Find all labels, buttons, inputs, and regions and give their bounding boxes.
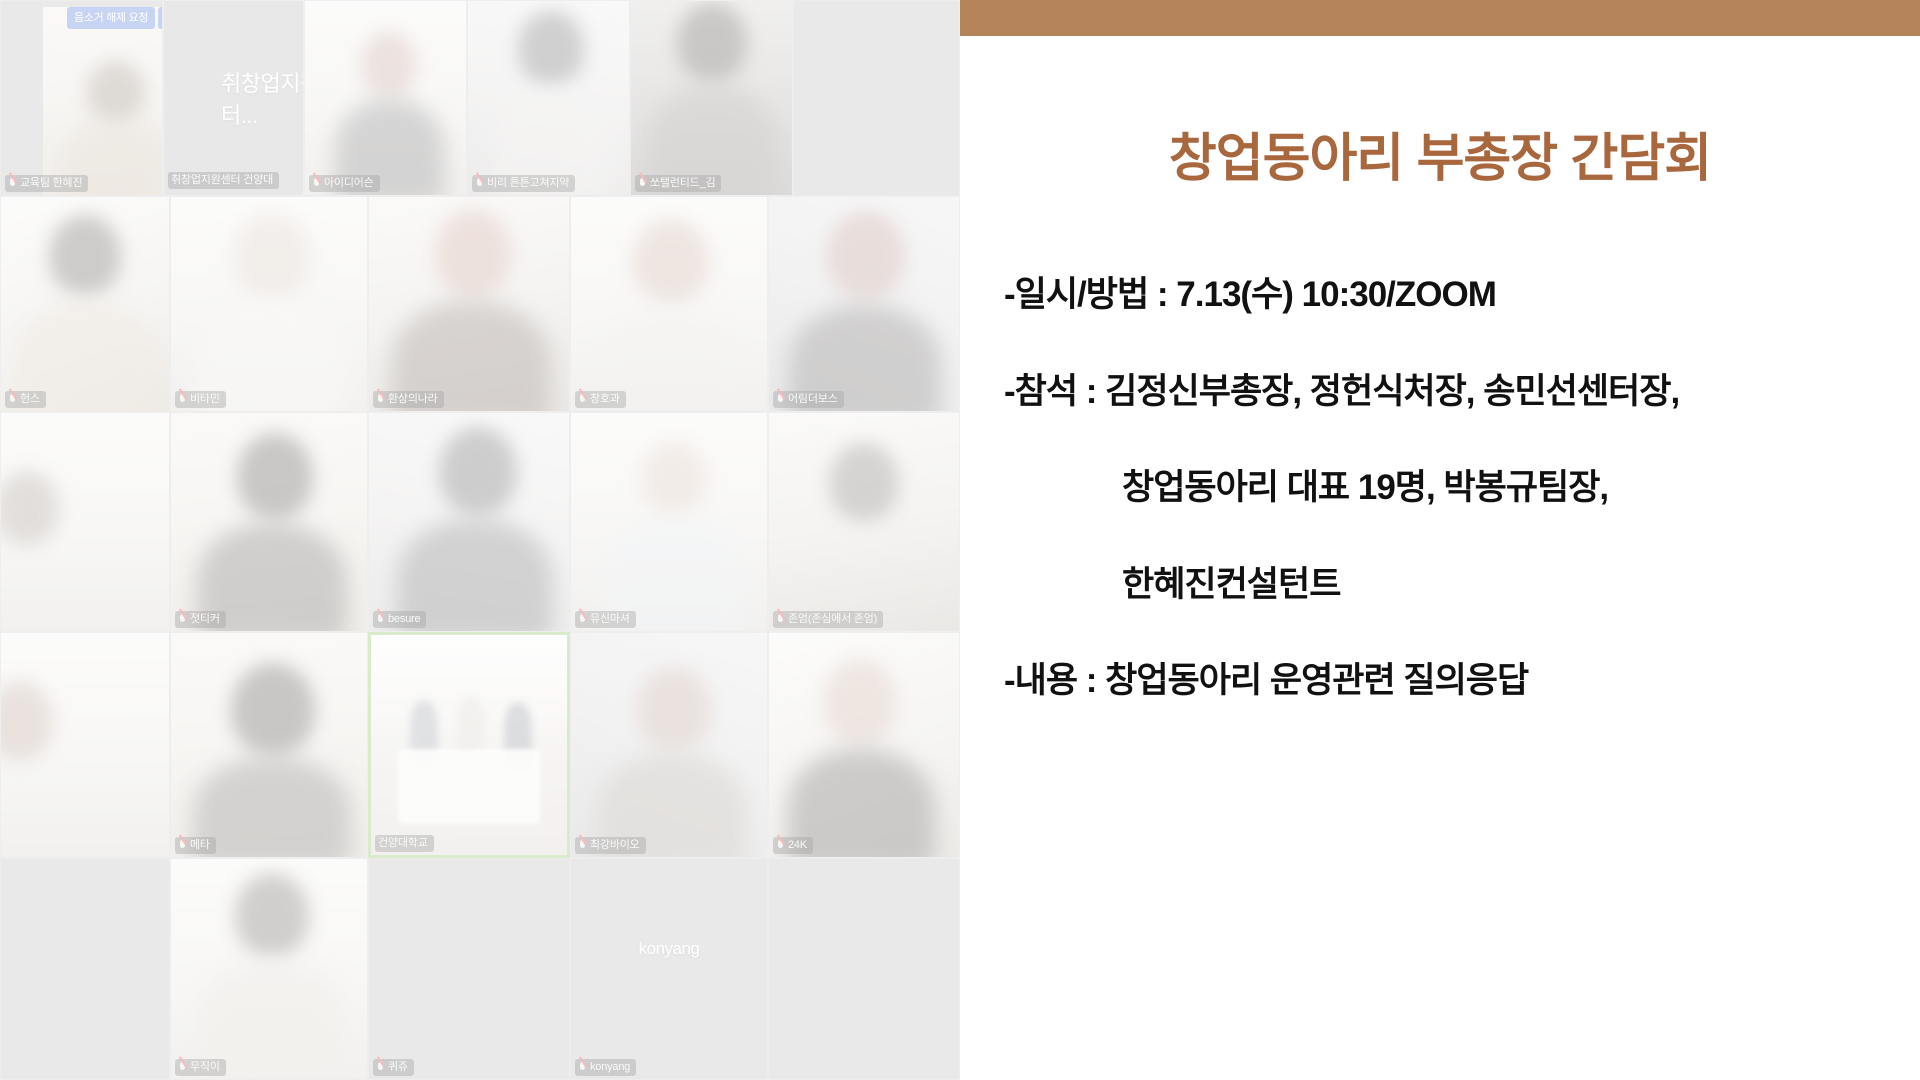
- poster-panel: 창업동아리 부총장 간담회 -일시/방법 : 7.13(수) 10:30/ZOO…: [960, 0, 1920, 1080]
- participant-tile[interactable]: [793, 0, 960, 196]
- participant-tile[interactable]: 음소거 해제 요청 ··· 교육팀 한혜진: [0, 0, 163, 196]
- video-feed: [171, 413, 367, 631]
- participant-tile[interactable]: 24K: [768, 632, 960, 858]
- person-head: [237, 433, 313, 519]
- mic-muted-icon: [578, 614, 587, 626]
- participant-tile[interactable]: [0, 632, 170, 858]
- video-feed: [631, 1, 792, 195]
- video-feed: [171, 197, 367, 411]
- person-head: [637, 667, 711, 751]
- participant-name-label: 24K: [773, 837, 813, 854]
- person-head: [49, 215, 121, 295]
- mic-muted-icon: [178, 1062, 187, 1074]
- mic-muted-icon: [8, 394, 17, 406]
- video-feed: [571, 413, 767, 631]
- participant-tile[interactable]: 최강바이오: [570, 632, 768, 858]
- person-head: [518, 11, 584, 85]
- mic-muted-icon: [776, 614, 785, 626]
- video-feed: [769, 633, 959, 857]
- person-torso: [193, 757, 351, 858]
- video-feed: [371, 635, 567, 855]
- participant-name-label: 최강바이오: [575, 837, 646, 854]
- video-feed: [769, 197, 959, 411]
- mic-muted-icon: [312, 178, 321, 190]
- participant-tile[interactable]: 아이디어슨: [304, 0, 467, 196]
- gallery-row-1: 음소거 해제 요청 ··· 교육팀 한혜진 취창업지원센터... 아: [0, 0, 960, 196]
- participant-tile[interactable]: 창호과: [570, 196, 768, 412]
- participant-name-label: 무직이: [175, 1059, 226, 1076]
- participant-tile[interactable]: 메타: [170, 632, 368, 858]
- unmute-request-button[interactable]: 음소거 해제 요청: [67, 7, 155, 29]
- mic-muted-icon: [178, 394, 187, 406]
- participant-name-label: 교육팀 한혜진: [5, 175, 88, 192]
- video-feed: [571, 633, 767, 857]
- participant-name-label: 건양대학교: [375, 835, 434, 852]
- participant-tile[interactable]: 환상의나라: [368, 196, 570, 412]
- mic-muted-icon: [8, 178, 17, 190]
- mic-muted-icon: [178, 840, 187, 852]
- participant-name-label: 취창업지원센터 건양대: [168, 172, 279, 189]
- video-feed: [43, 7, 162, 195]
- poster-line-attendees-2: 창업동아리 대표 19명, 박봉규팀장,: [1004, 469, 1896, 508]
- active-speaker-tile[interactable]: 건양대학교: [368, 632, 570, 858]
- participant-tile[interactable]: 쏘탤런티드_김: [630, 0, 793, 196]
- video-feed: [1, 197, 169, 411]
- person-torso: [197, 959, 347, 1067]
- poster-line-agenda: -내용 : 창업동아리 운영관련 질의응답: [1004, 662, 1896, 701]
- participant-name-label: 젓티커: [175, 611, 226, 628]
- video-feed: [1, 633, 169, 857]
- video-feed: [369, 413, 569, 631]
- participant-tile[interactable]: 비타민: [170, 196, 368, 412]
- person-head: [233, 213, 311, 299]
- mic-muted-icon: [376, 394, 385, 406]
- person-head: [827, 211, 905, 299]
- video-feed: [1, 413, 169, 631]
- poster-body: -일시/방법 : 7.13(수) 10:30/ZOOM -참석 : 김정신부총장…: [960, 276, 1920, 701]
- gallery-row-3: 젓티커 besure 뮤: [0, 412, 960, 632]
- participant-name-label: 비타민: [175, 391, 226, 408]
- person-head: [829, 443, 899, 521]
- unmute-request-toolbar[interactable]: 음소거 해제 요청 ···: [67, 7, 163, 29]
- participant-tile[interactable]: 퀴쥬: [368, 858, 570, 1080]
- gallery-row-5: 무직이 퀴쥬 konyang konyang: [0, 858, 960, 1080]
- mic-muted-icon: [638, 178, 647, 190]
- participant-tile[interactable]: 젓티커: [170, 412, 368, 632]
- mic-muted-icon: [776, 840, 785, 852]
- participant-name-label: 헌스: [5, 391, 46, 408]
- participant-tile[interactable]: 비리 튼튼고쳐지약: [467, 0, 630, 196]
- participant-tile[interactable]: 존엄(존심에서 존엄): [768, 412, 960, 632]
- mic-muted-icon: [578, 840, 587, 852]
- video-feed: [171, 859, 367, 1079]
- person-head: [633, 219, 709, 303]
- participant-tile[interactable]: 취창업지원센터...: [163, 0, 304, 196]
- video-feed: [468, 1, 629, 195]
- participant-tile[interactable]: [768, 858, 960, 1080]
- person-head: [87, 61, 145, 123]
- person-head: [677, 3, 747, 81]
- participant-tile[interactable]: konyang konyang: [570, 858, 768, 1080]
- participant-name-label: 뮤신마셔: [575, 611, 636, 628]
- participant-name-label: 창호과: [575, 391, 626, 408]
- participant-name-label: 어림더보스: [773, 391, 844, 408]
- participant-name-label: 메타: [175, 837, 216, 854]
- person-head: [435, 209, 511, 297]
- mic-muted-icon: [376, 614, 385, 626]
- participant-tile[interactable]: 어림더보스: [768, 196, 960, 412]
- participant-name-label: konyang: [575, 1059, 636, 1076]
- gallery-row-4: 메타 건양대학교: [0, 632, 960, 858]
- center-placeholder-text: 취창업지원센터...: [221, 1, 304, 195]
- participant-name-label: 환상의나라: [373, 391, 444, 408]
- poster-line-attendees: -참석 : 김정신부총장, 정헌식처장, 송민선센터장,: [1004, 373, 1896, 412]
- video-feed: [769, 413, 959, 631]
- person-head: [0, 471, 59, 545]
- mic-muted-icon: [475, 178, 484, 190]
- poster-title: 창업동아리 부총장 간담회: [960, 128, 1920, 190]
- meeting-table: [398, 749, 539, 824]
- person-head: [0, 681, 53, 761]
- poster-line-attendees-3: 한혜진컨설턴트: [1004, 566, 1896, 605]
- mic-muted-icon: [178, 614, 187, 626]
- gallery-row-2: 헌스 비타민 환상의나라: [0, 196, 960, 412]
- screenshot-root: 음소거 해제 요청 ··· 교육팀 한혜진 취창업지원센터... 아: [0, 0, 1920, 1080]
- mic-muted-icon: [776, 394, 785, 406]
- participant-name-label: 쏘탤런티드_김: [635, 175, 721, 192]
- video-feed: [305, 1, 466, 195]
- mic-muted-icon: [376, 1062, 385, 1074]
- participant-name-label: 존엄(존심에서 존엄): [773, 611, 883, 628]
- participant-tile[interactable]: 헌스: [0, 196, 170, 412]
- participant-name-label: besure: [373, 611, 426, 628]
- poster-line-datetime: -일시/방법 : 7.13(수) 10:30/ZOOM: [1004, 276, 1896, 315]
- participant-tile[interactable]: 무직이: [170, 858, 368, 1080]
- person-head: [361, 31, 417, 97]
- mic-muted-icon: [578, 1062, 587, 1074]
- video-feed: [171, 633, 367, 857]
- participant-tile[interactable]: [0, 412, 170, 632]
- person-head: [823, 659, 897, 745]
- participant-name-label: 퀴쥬: [373, 1059, 414, 1076]
- person-head: [439, 427, 517, 515]
- participant-tile[interactable]: besure: [368, 412, 570, 632]
- mic-muted-icon: [578, 394, 587, 406]
- participant-name-label: 비리 튼튼고쳐지약: [472, 175, 575, 192]
- center-watermark-text: konyang: [571, 858, 767, 1079]
- video-feed: [571, 197, 767, 411]
- poster-top-bar: [960, 0, 1920, 36]
- person-head: [235, 873, 309, 957]
- person-head: [641, 441, 707, 515]
- person-head: [231, 663, 315, 755]
- participant-name-label: 아이디어슨: [309, 175, 380, 192]
- participant-tile[interactable]: 뮤신마셔: [570, 412, 768, 632]
- zoom-gallery-panel: 음소거 해제 요청 ··· 교육팀 한혜진 취창업지원센터... 아: [0, 0, 960, 1080]
- video-feed: [369, 197, 569, 411]
- participant-tile[interactable]: [0, 858, 170, 1080]
